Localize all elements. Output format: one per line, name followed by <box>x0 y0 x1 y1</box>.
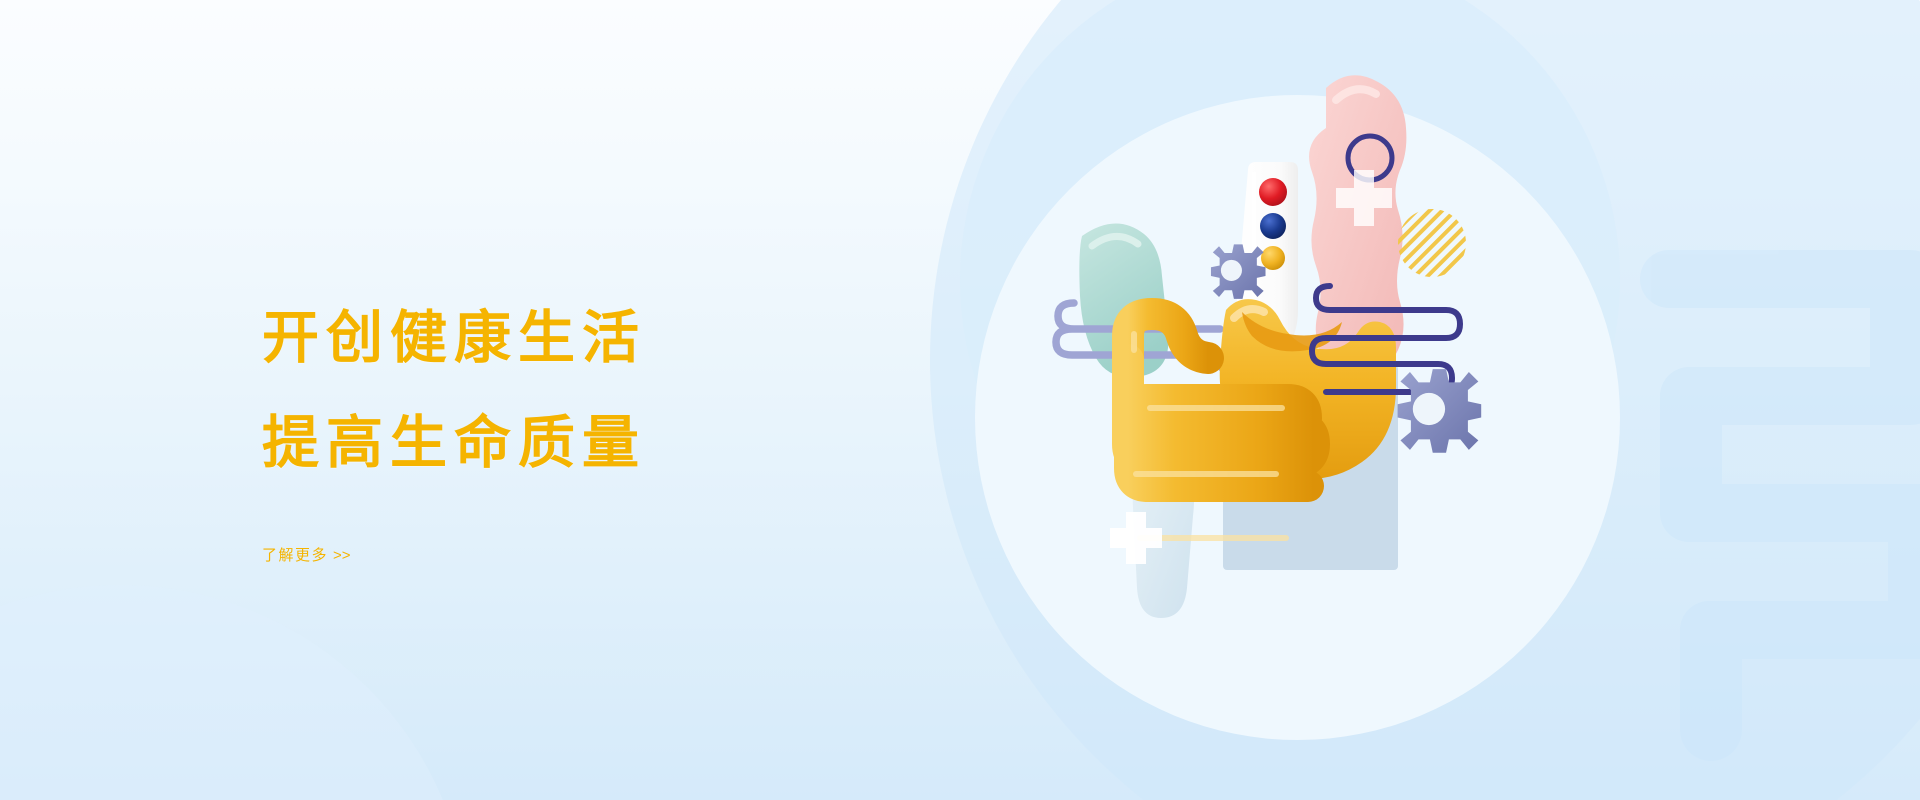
gear-small-icon <box>1211 244 1266 299</box>
learn-more-label: 了解更多 <box>262 547 328 564</box>
hero-banner: 开创健康生活 提高生命质量 了解更多>> <box>0 0 1920 800</box>
learn-more-link[interactable]: 了解更多>> <box>262 544 351 565</box>
dot-navy <box>1260 213 1286 239</box>
hatched-circle-icon <box>1390 200 1480 290</box>
dot-yellow <box>1261 246 1285 270</box>
page-title-line1: 开创健康生活 <box>262 310 882 367</box>
chevron-double-right-icon: >> <box>333 547 351 564</box>
hero-copy: 开创健康生活 提高生命质量 了解更多>> <box>262 310 882 565</box>
dot-red <box>1259 178 1287 206</box>
page-title-line2: 提高生命质量 <box>262 415 882 472</box>
gear-large-icon <box>1398 369 1482 453</box>
digestive-system-illustration <box>1030 60 1710 760</box>
bg-soft-circle-bottomleft <box>0 585 470 800</box>
